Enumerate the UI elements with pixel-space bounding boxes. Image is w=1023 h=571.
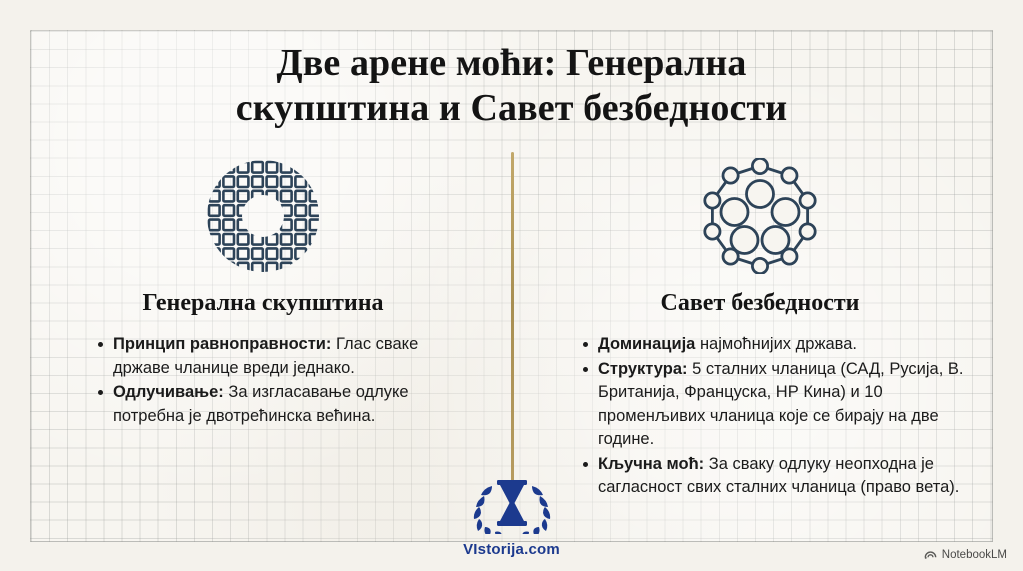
vertical-divider [511,152,514,490]
notebooklm-icon [924,548,937,561]
bullet-list-general-assembly: Принцип равноправности: Глас сваке држав… [93,333,463,428]
list-item: Доминација најмоћнијих држава. [578,333,978,357]
notebooklm-label: NotebookLM [942,549,1007,561]
brand-name: VIstorija.com [0,541,1023,558]
bullet-lead: Принцип равноправности: [113,335,331,353]
hourglass-laurel-logo [464,472,560,534]
bullet-lead: Доминација [598,335,695,353]
bullet-lead: Кључна моћ: [598,455,704,473]
bullet-rest: најмоћнијих држава. [695,335,857,353]
list-item: Одлучивање: За изгласавање одлуке потреб… [93,381,463,428]
column-heading-security-council: Савет безбедности [515,290,1005,317]
bullet-lead: Одлучивање: [113,383,224,401]
bullet-lead: Структура: [598,360,688,378]
assembly-seats-icon [205,158,321,274]
column-heading-general-assembly: Генерална скупштина [18,290,508,317]
page-title: Две арене моћи: Генерална скупштина и Са… [0,41,1023,131]
council-members-icon [702,158,818,274]
brand-block: VIstorija.com [0,472,1023,558]
council-members-icon-wrap [515,150,1005,282]
assembly-seats-icon-wrap [18,150,508,282]
list-item: Структура: 5 сталних чланица (САД, Русиј… [578,358,978,452]
column-general-assembly: Генерална скупштина Принцип равноправнос… [18,150,508,429]
list-item: Принцип равноправности: Глас сваке држав… [93,333,463,380]
notebooklm-badge: NotebookLM [924,548,1007,561]
infographic-canvas: Две арене моћи: Генерална скупштина и Са… [0,0,1023,571]
column-security-council: Савет безбедности Доминација најмоћнијих… [515,150,1005,501]
